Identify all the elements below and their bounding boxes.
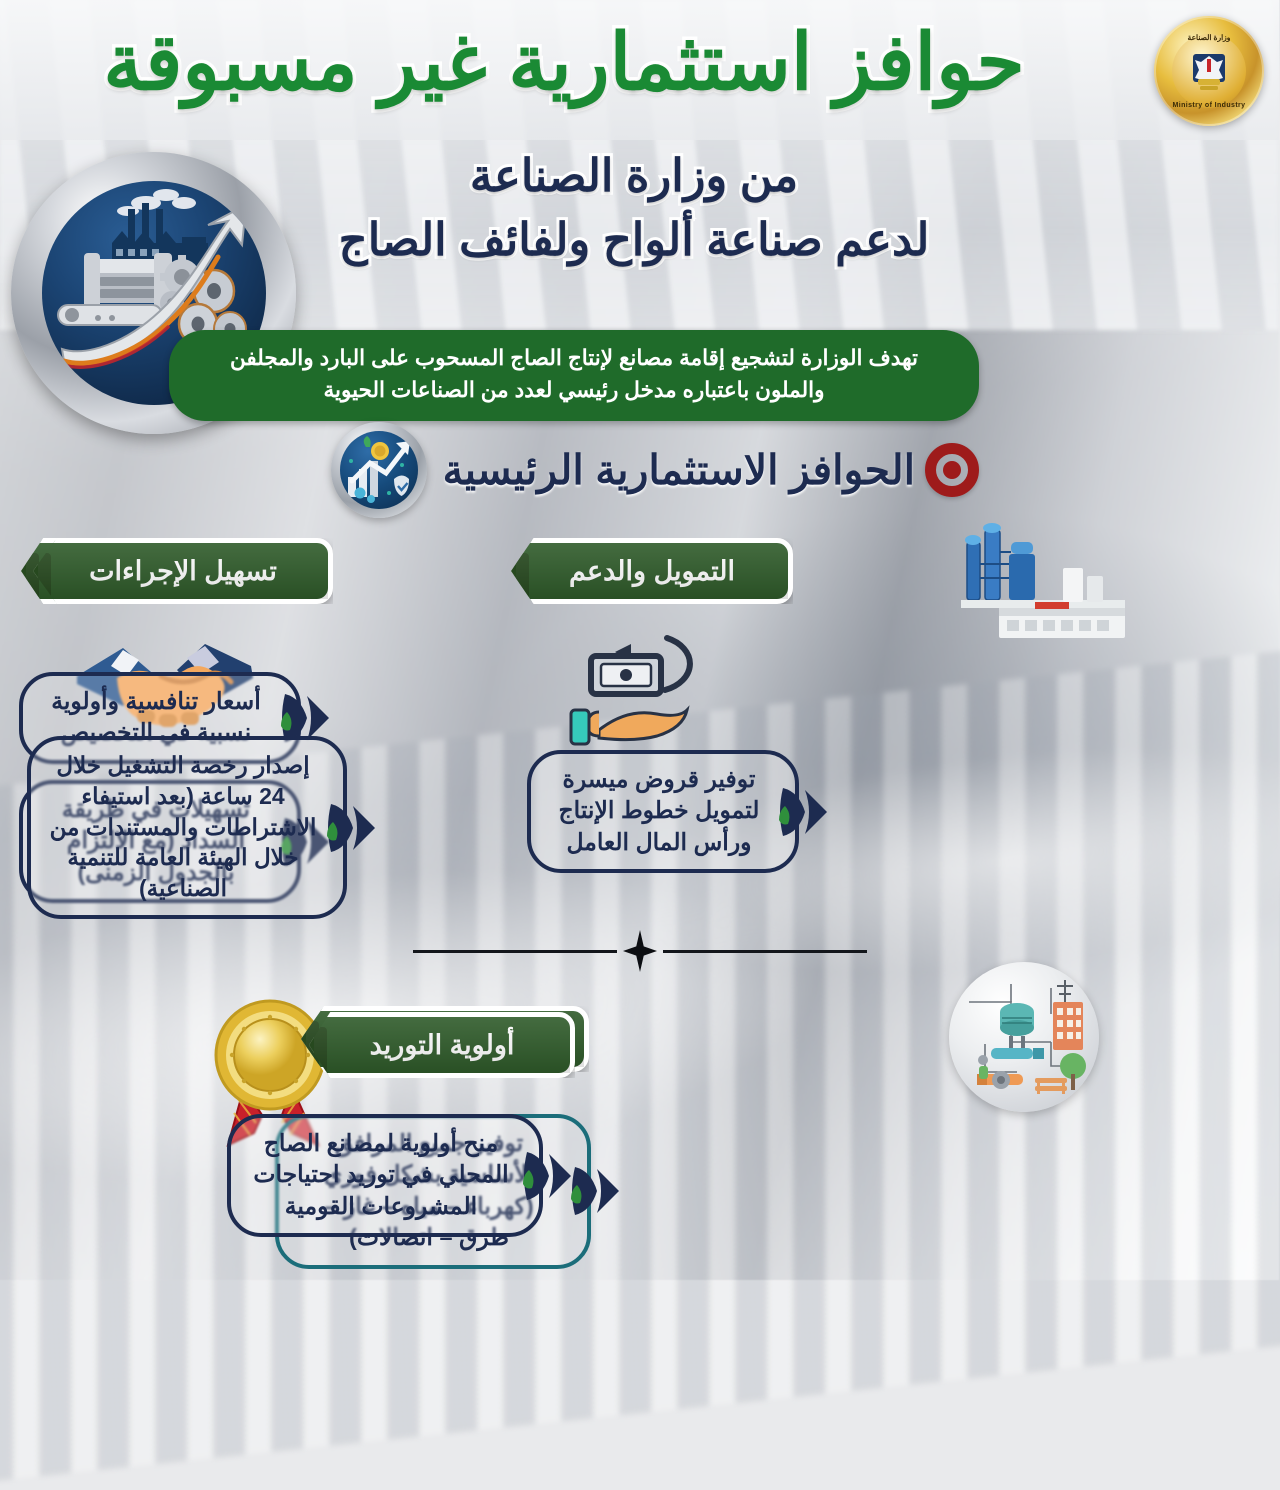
- industrial-plant-illustration: [960, 512, 1128, 642]
- hero-subtitle: من وزارة الصناعة لدعم صناعة ألواح ولفائف…: [290, 146, 980, 272]
- card-text: منح أولوية لمصانع الصاج المحلي في توريد …: [254, 1130, 509, 1219]
- hand-receiving-money-icon: [566, 622, 742, 754]
- page-title: حوافز استثمارية غير مسبوقة: [0, 14, 1130, 112]
- title-bar: حوافز استثمارية غير مسبوقة وزارة الصناعة…: [0, 0, 1280, 140]
- divider-line-left: [664, 950, 868, 953]
- investment-growth-icon-disc: [341, 431, 419, 509]
- divider: [414, 930, 868, 972]
- utilities-network-illustration: [950, 962, 1100, 1112]
- ministry-of-industry-seal: وزارة الصناعة Ministry of Industry: [1155, 16, 1265, 126]
- section-heading: الحوافز الاستثمارية الرئيسية: [332, 422, 980, 518]
- seal-english-label: Ministry of Industry: [1173, 102, 1247, 109]
- pennant-header-procedures: تسهيل الإجراءات: [34, 538, 334, 604]
- seal-inner: وزارة الصناعة Ministry of Industry: [1173, 34, 1247, 108]
- card-financing-1: توفير قروض ميسرة لتمويل خطوط الإنتاج ورأ…: [528, 750, 800, 873]
- ministry-goal-banner: تهدف الوزارة لتشجيع إقامة مصانع لإنتاج ا…: [170, 330, 980, 421]
- card-text: توفير قروض ميسرة لتمويل خطوط الإنتاج ورأ…: [560, 766, 761, 855]
- seal-arabic-label: وزارة الصناعة: [1173, 33, 1247, 42]
- pennant-header-financing: التمويل والدعم: [512, 538, 794, 604]
- target-icon: [926, 443, 980, 497]
- card-procedures-1: إصدار رخصة التشغيل خلال 24 ساعة (بعد است…: [28, 736, 348, 919]
- pennant-label: تسهيل الإجراءات: [90, 556, 278, 587]
- investment-growth-illustration: [341, 431, 419, 509]
- section-heading-label: الحوافز الاستثمارية الرئيسية: [444, 446, 916, 494]
- card-supply-priority-1: منح أولوية لمصانع الصاج المحلي في توريد …: [228, 1114, 544, 1237]
- industrial-plant-icon: [960, 512, 1128, 642]
- utilities-network-icon: [950, 962, 1100, 1112]
- eagle-emblem-icon: [1188, 48, 1232, 94]
- pennant-label: التمويل والدعم: [570, 556, 736, 587]
- card-text: إصدار رخصة التشغيل خلال 24 ساعة (بعد است…: [51, 752, 318, 901]
- loan-money-illustration: [566, 622, 742, 754]
- divider-line-right: [414, 950, 618, 953]
- investment-growth-icon: [332, 422, 428, 518]
- hero-subtitle-line-1: من وزارة الصناعة: [290, 146, 980, 207]
- hero-subtitle-line-2: لدعم صناعة ألواح ولفائف الصاج: [290, 207, 980, 272]
- pennant-label: أولوية التوريد: [371, 1030, 516, 1061]
- pennant-header-supply-priority: أولوية التوريد: [310, 1012, 576, 1078]
- four-point-star-icon: [624, 930, 658, 972]
